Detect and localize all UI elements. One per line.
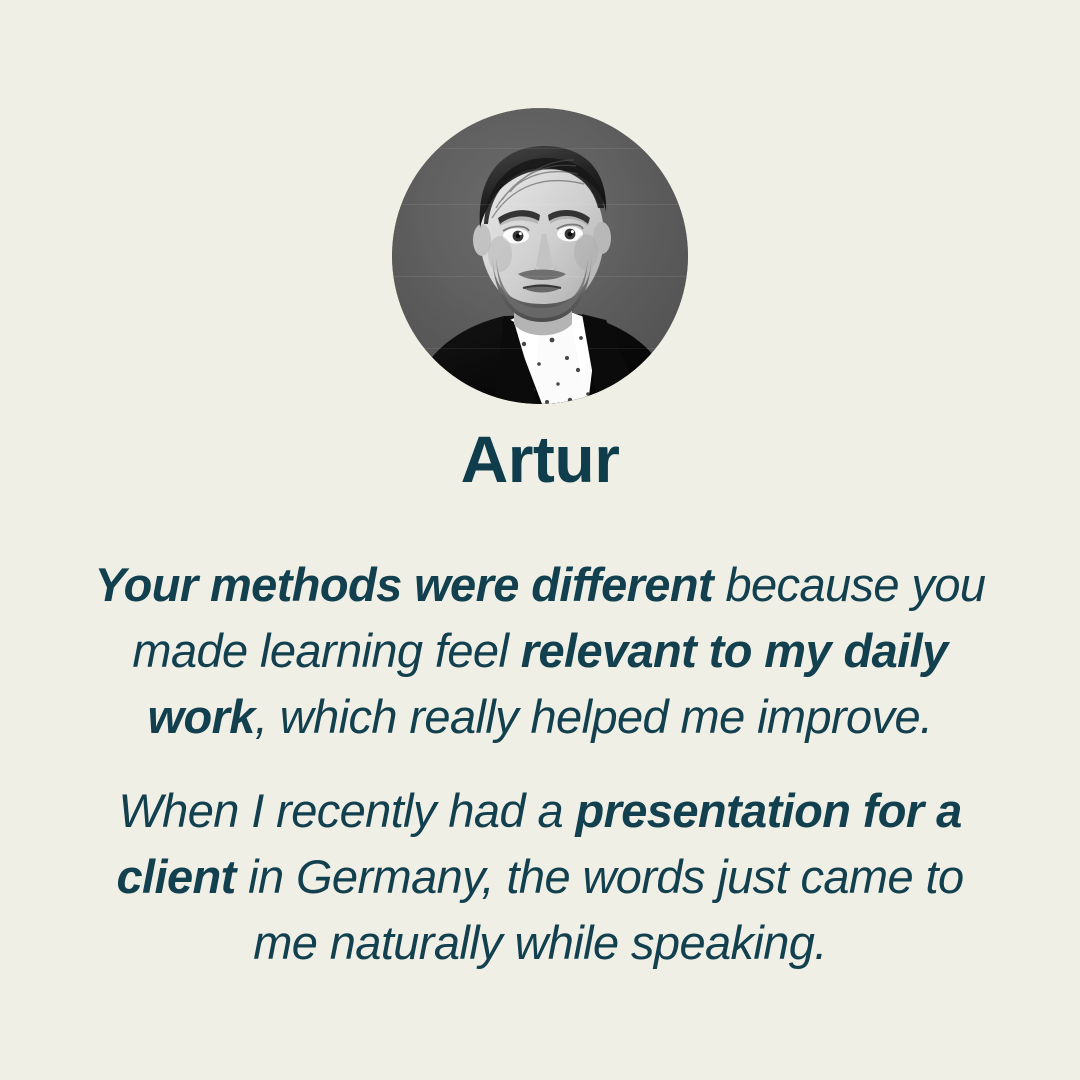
portrait-photo [392, 108, 688, 404]
person-name: Artur [0, 425, 1080, 494]
testimonial-quote: Your methods were different because you … [90, 552, 990, 976]
portrait-illustration-icon [392, 108, 688, 404]
testimonial-card: Artur Your methods were different becaus… [0, 0, 1080, 1080]
testimonial-paragraph: Your methods were different because you … [90, 552, 990, 750]
testimonial-paragraph: When I recently had a presentation for a… [90, 778, 990, 976]
avatar [392, 108, 688, 404]
